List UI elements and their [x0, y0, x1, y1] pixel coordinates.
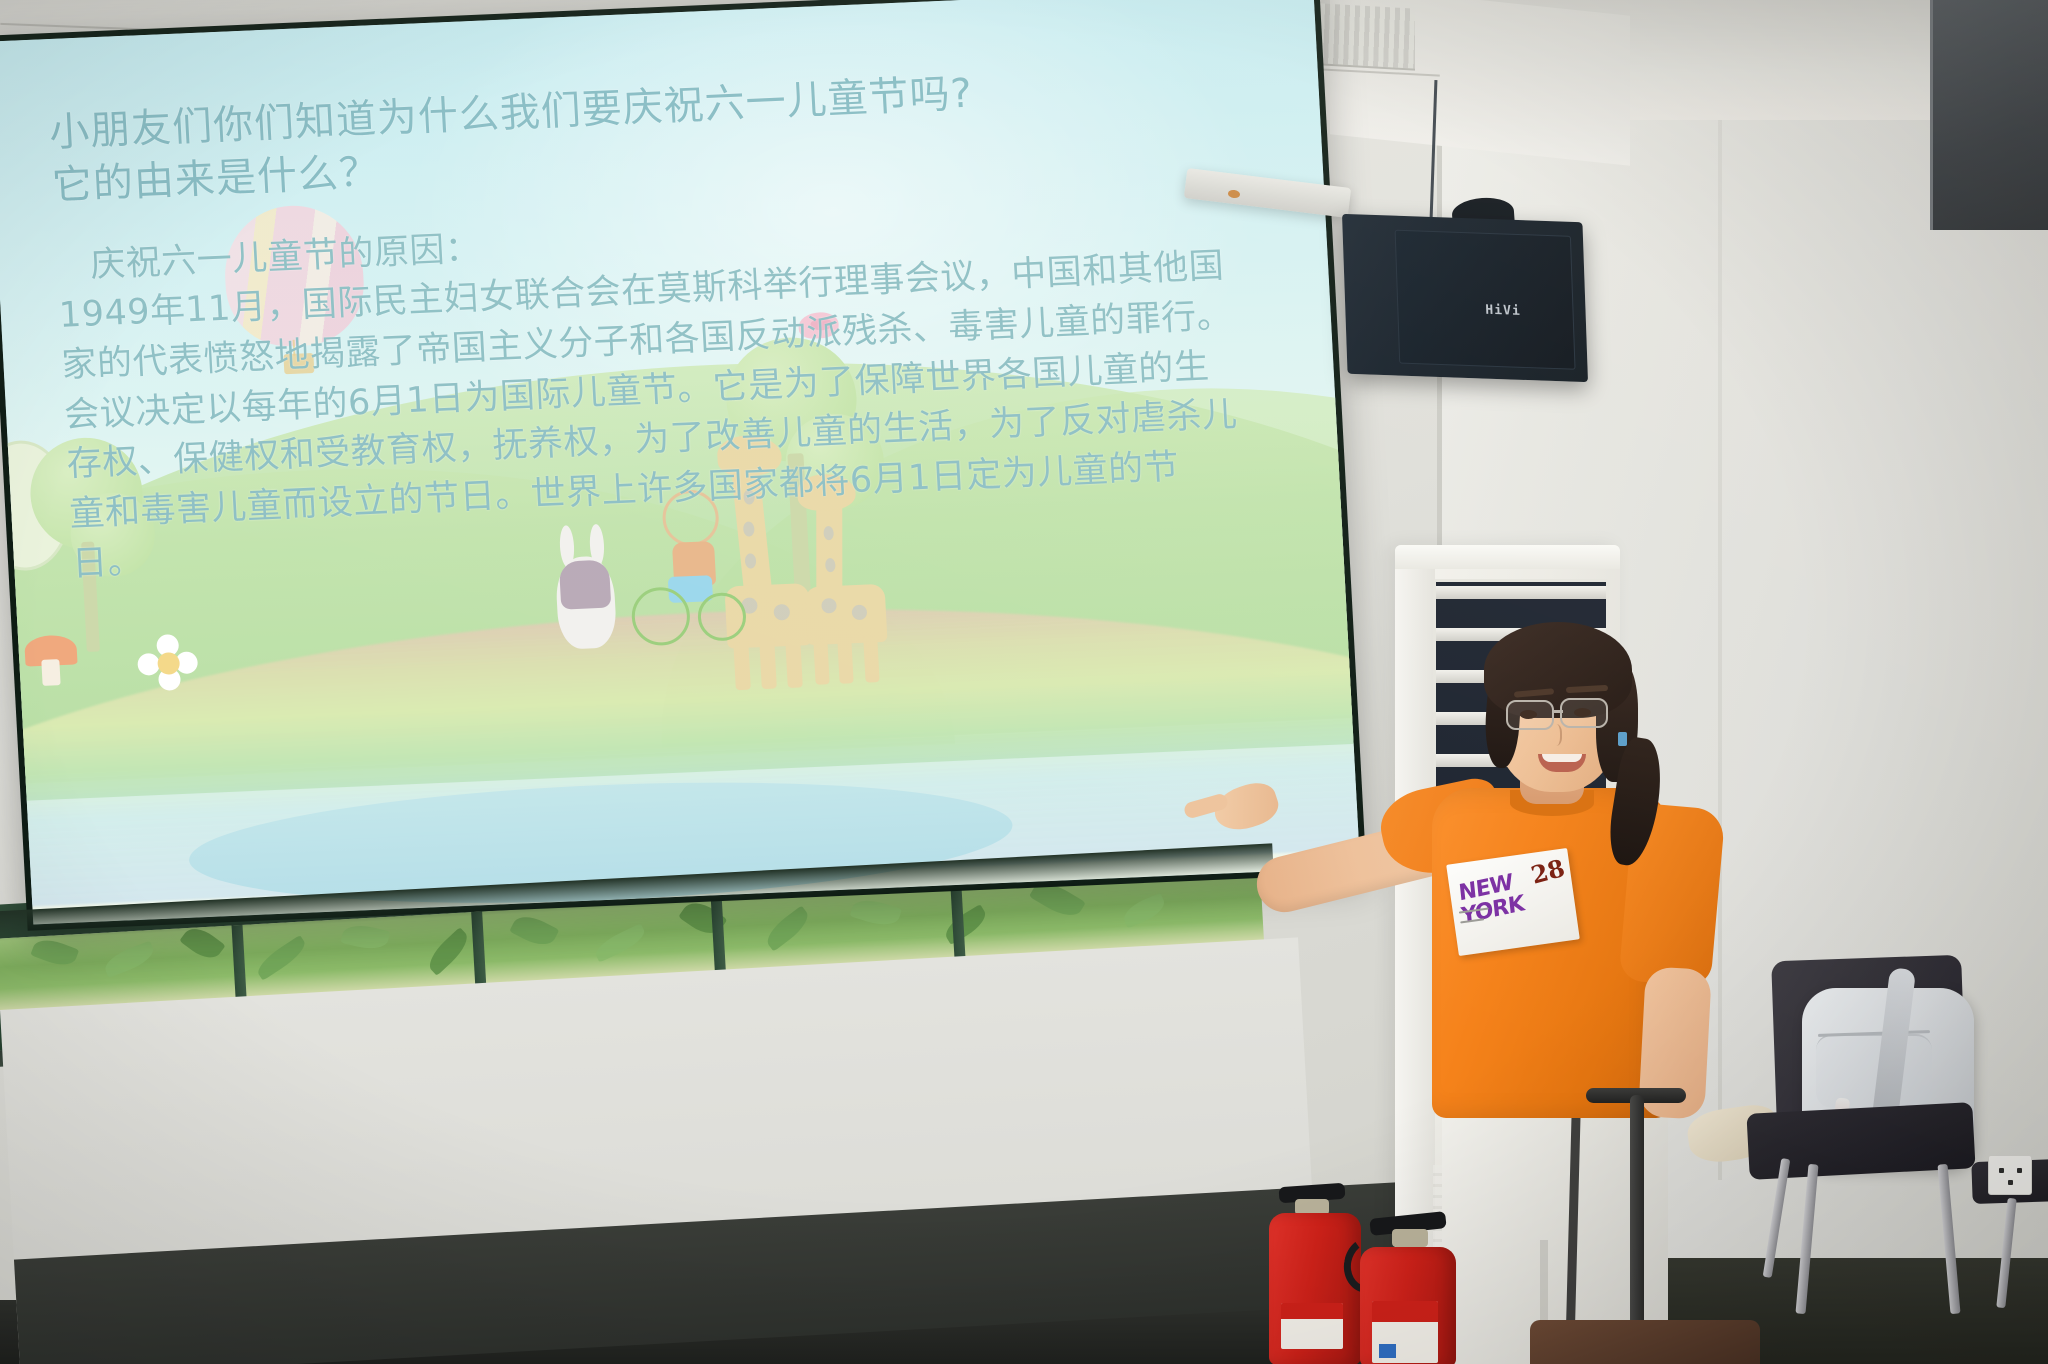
speaker-brand-label: HiVi: [1485, 303, 1521, 319]
extinguisher-label-band: [1281, 1303, 1343, 1319]
hair-top: [1484, 622, 1632, 718]
wall-speaker: HiVi: [1342, 214, 1588, 382]
slide-flower: [136, 633, 199, 695]
lower-wall: [0, 937, 1318, 1364]
bicycle-wheel: [697, 592, 748, 642]
fire-extinguisher-right: [1340, 1215, 1470, 1364]
badge-number: 28: [1527, 853, 1567, 890]
slide-text-block: 小朋友们你们知道为什么我们要庆祝六一儿童节吗? 它的由来是什么？ 庆祝六一儿童节…: [48, 57, 1253, 590]
projected-slide: 小朋友们你们知道为什么我们要庆祝六一儿童节吗? 它的由来是什么？ 庆祝六一儿童节…: [0, 0, 1360, 924]
slide-mushroom-stem: [41, 659, 60, 686]
chair-leg: [1795, 1164, 1818, 1314]
screen-frame: 小朋友们你们知道为什么我们要庆祝六一儿童节吗? 它的由来是什么？ 庆祝六一儿童节…: [0, 0, 1367, 931]
suitcase: [1530, 1320, 1760, 1364]
extinguisher-valve: [1392, 1229, 1428, 1247]
extinguisher-label-band: [1372, 1301, 1438, 1322]
chair-leg: [1996, 1198, 2016, 1308]
projection-screen[interactable]: 小朋友们你们知道为什么我们要庆祝六一儿童节吗? 它的由来是什么？ 庆祝六一儿童节…: [0, 0, 1388, 955]
extinguisher-label: [1281, 1303, 1343, 1349]
eye-right: [1574, 708, 1591, 717]
earring: [1618, 732, 1627, 746]
outlet-slot: [2017, 1168, 2022, 1173]
extinguisher-label: [1372, 1301, 1438, 1363]
eye-left: [1520, 710, 1537, 719]
luggage-handle-post: [1630, 1095, 1644, 1345]
teeth: [1542, 754, 1582, 762]
name-badge: NEW YORK 28: [1446, 848, 1580, 956]
power-outlet[interactable]: [1988, 1155, 2032, 1195]
extinguisher-label-icon: [1379, 1344, 1396, 1358]
ac-top-strip: [1395, 545, 1620, 569]
giraffe-leg: [837, 637, 853, 684]
slide-body-paragraph: 1949年11月，国际民主妇女联合会在莫斯科举行理事会议，中国和其他国家的代表愤…: [58, 246, 1239, 584]
outlet-slot: [2008, 1180, 2013, 1185]
giraffe-leg: [863, 636, 879, 683]
nose: [1548, 724, 1562, 746]
ac-louver: [1436, 586, 1606, 599]
slide-body: 庆祝六一儿童节的原因： 1949年11月，国际民主妇女联合会在莫斯科举行理事会议…: [55, 192, 1252, 590]
classroom-scene: 小朋友们你们知道为什么我们要庆祝六一儿童节吗? 它的由来是什么？ 庆祝六一儿童节…: [0, 0, 2048, 1364]
outlet-slot: [1999, 1168, 2004, 1173]
giraffe-leg: [813, 638, 829, 685]
speaker-grille: [1395, 230, 1576, 370]
ceiling-dark-beam: [1930, 0, 2048, 230]
glasses-bridge: [1553, 710, 1563, 713]
classroom-chair: [1758, 958, 2003, 1318]
chair-leg: [1937, 1164, 1960, 1314]
